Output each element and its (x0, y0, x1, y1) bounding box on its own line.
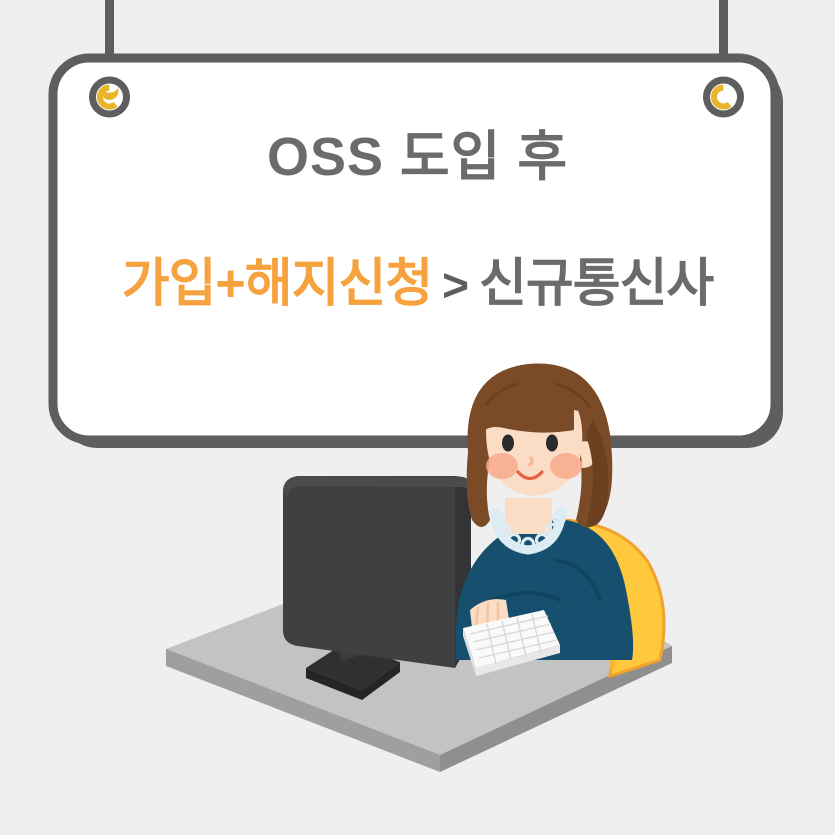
eye-right (546, 435, 558, 452)
scene-graphics (0, 0, 835, 835)
cheek-left (486, 453, 518, 479)
poster-canvas: OSS 도입 후 가입+해지신청>신규통신사 (0, 0, 835, 835)
grommet-left-icon (93, 80, 127, 114)
cheek-right (550, 453, 582, 479)
eye-left (502, 435, 514, 452)
neck (505, 498, 552, 534)
board-face (53, 58, 775, 440)
monitor-panel (283, 476, 455, 668)
signboard-body (53, 58, 783, 448)
grommet-right-icon (707, 80, 741, 114)
